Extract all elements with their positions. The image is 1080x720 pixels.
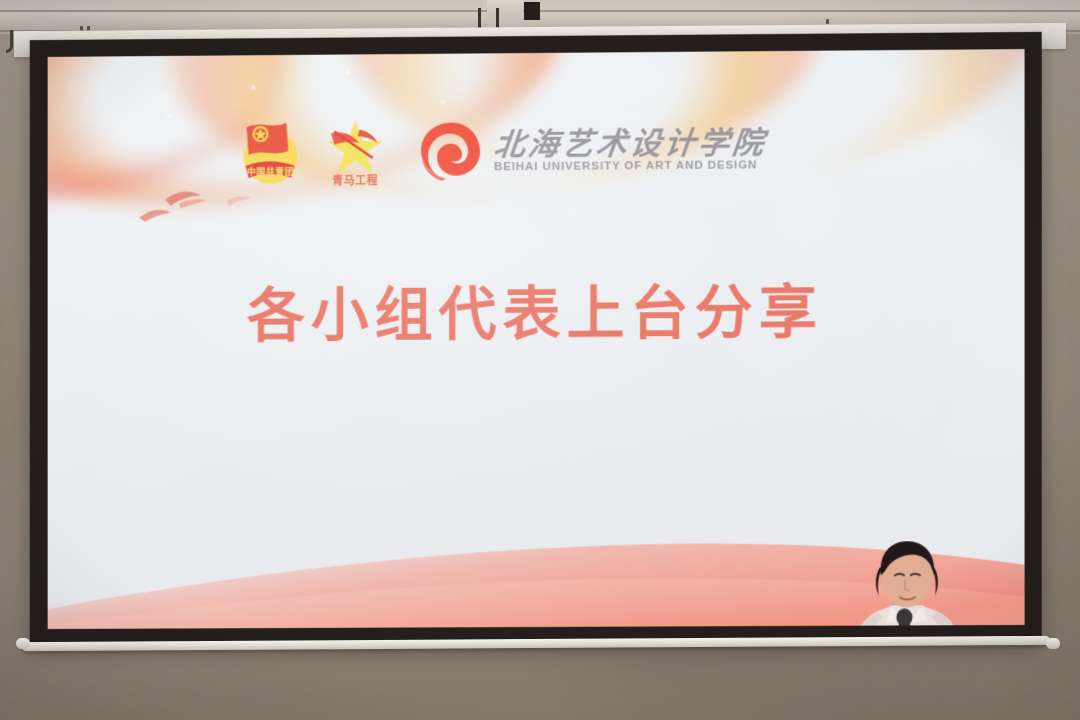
- svg-text:中国共青团: 中国共青团: [247, 166, 294, 177]
- projection-screen-frame: 中国共青团 青马工程: [30, 32, 1042, 646]
- qingma-project-logo-icon: 青马工程: [318, 116, 392, 188]
- qingma-project-label: 青马工程: [318, 172, 392, 189]
- slide-title: 各小组代表上台分享: [48, 264, 1025, 354]
- sparkle-icon: [252, 85, 256, 89]
- wall-hook-icon: [6, 30, 13, 53]
- beihai-university-logo: 北海艺术设计学院 BEIHAI UNIVERSITY OF ART AND DE…: [420, 118, 766, 183]
- mount-chip: [524, 2, 540, 20]
- ceiling-seam-line: [0, 10, 1080, 12]
- slide-logo-row: 中国共青团 青马工程: [237, 113, 767, 189]
- sparkle-icon: [346, 70, 350, 74]
- communist-youth-league-emblem-icon: 中国共青团: [237, 117, 305, 189]
- weight-bar-cap: [1046, 638, 1060, 649]
- university-swirl-icon: [420, 120, 482, 182]
- university-name-cn: 北海艺术设计学院: [492, 127, 768, 160]
- ceiling-mount-bracket: [487, 0, 523, 30]
- sparkle-icon: [441, 100, 445, 104]
- student-presenter: [817, 531, 998, 629]
- weight-bar-cap: [16, 638, 30, 649]
- projection-screen-surface: 中国共青团 青马工程: [48, 49, 1025, 629]
- classroom-presentation-photo: 中国共青团 青马工程: [0, 0, 1080, 720]
- university-name-en: BEIHAI UNIVERSITY OF ART AND DESIGN: [494, 160, 766, 173]
- sparkle-icon: [167, 114, 171, 118]
- wall-screw-dot: [826, 19, 829, 24]
